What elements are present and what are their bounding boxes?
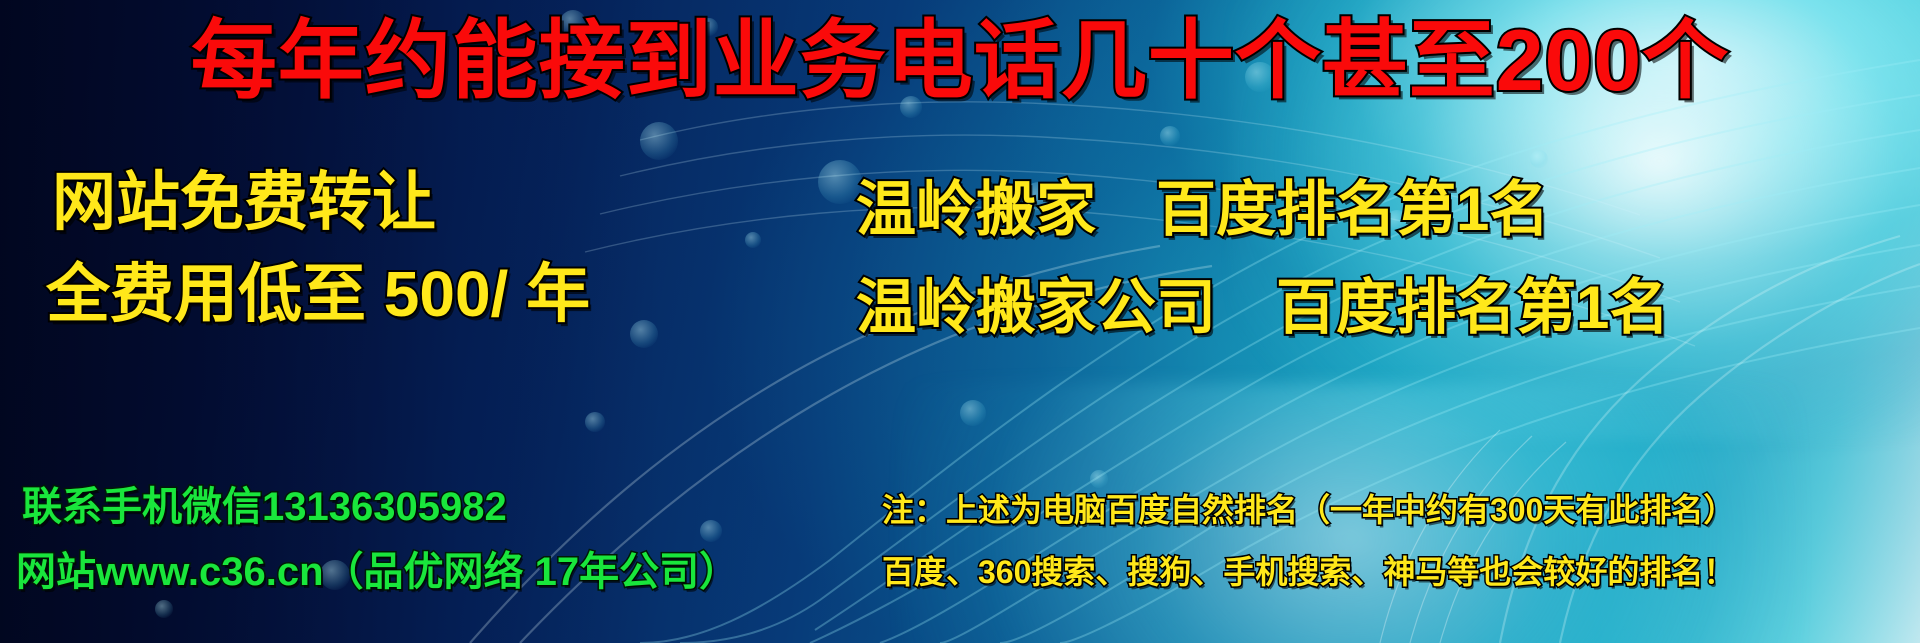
headline-text: 每年约能接到业务电话几十个甚至200个 bbox=[0, 18, 1920, 104]
contact-website: 网站www.c36.cn（品优网络 17年公司） bbox=[16, 552, 739, 592]
offer-line-2: 全费用低至 500/ 年 bbox=[46, 262, 590, 326]
offer-line-1: 网站免费转让 bbox=[52, 170, 436, 234]
ranking-line-1: 温岭搬家 百度排名第1名 bbox=[856, 180, 1549, 240]
note-line-1: 注：上述为电脑百度自然排名（一年中约有300天有此排名） bbox=[882, 494, 1735, 526]
ranking-line-2: 温岭搬家公司 百度排名第1名 bbox=[856, 278, 1669, 338]
note-line-2: 百度、360搜索、搜狗、手机搜索、神马等也会较好的排名！ bbox=[882, 556, 1735, 588]
contact-phone-wechat: 联系手机微信13136305982 bbox=[22, 487, 507, 527]
promo-banner: 每年约能接到业务电话几十个甚至200个 网站免费转让 全费用低至 500/ 年 … bbox=[0, 0, 1920, 643]
